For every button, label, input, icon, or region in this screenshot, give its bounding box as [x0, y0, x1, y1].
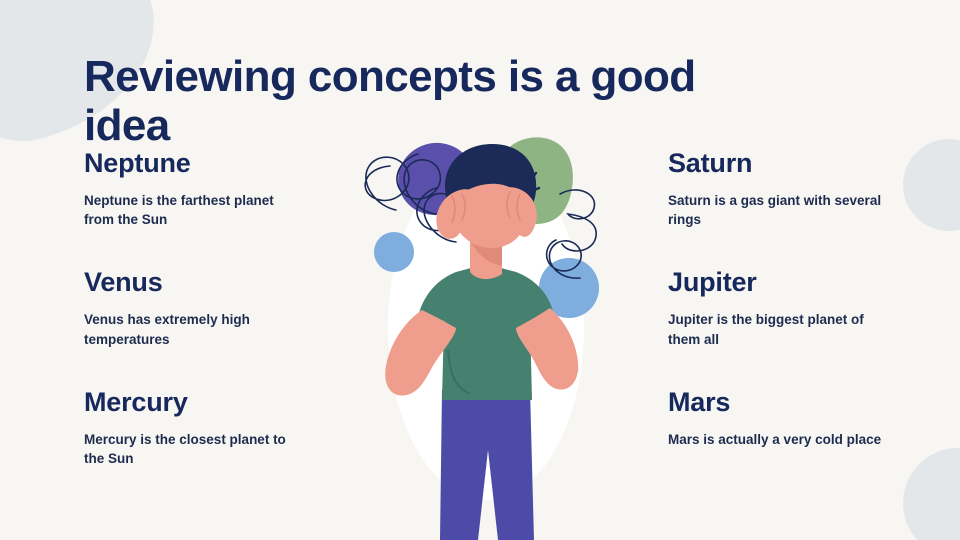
item-heading-mercury: Mercury	[84, 387, 334, 418]
list-item: Mercury Mercury is the closest planet to…	[84, 387, 334, 468]
item-heading-jupiter: Jupiter	[668, 267, 918, 298]
list-item: Mars Mars is actually a very cold place	[668, 387, 918, 449]
column-left: Neptune Neptune is the farthest planet f…	[84, 148, 334, 468]
circle-blue-left	[374, 232, 414, 272]
item-description-jupiter: Jupiter is the biggest planet of them al…	[668, 310, 883, 348]
item-description-saturn: Saturn is a gas giant with several rings	[668, 191, 883, 229]
decorative-circle-right-bottom	[903, 448, 960, 540]
item-heading-mars: Mars	[668, 387, 918, 418]
slide: Reviewing concepts is a good idea Neptun…	[0, 0, 960, 540]
illustration-stressed-person	[352, 132, 614, 540]
item-heading-venus: Venus	[84, 267, 334, 298]
list-item: Saturn Saturn is a gas giant with severa…	[668, 148, 918, 229]
list-item: Venus Venus has extremely high temperatu…	[84, 267, 334, 348]
item-description-venus: Venus has extremely high temperatures	[84, 310, 299, 348]
list-item: Neptune Neptune is the farthest planet f…	[84, 148, 334, 229]
item-description-neptune: Neptune is the farthest planet from the …	[84, 191, 299, 229]
item-heading-neptune: Neptune	[84, 148, 334, 179]
decorative-blob-top-left	[0, 0, 177, 160]
item-description-mars: Mars is actually a very cold place	[668, 430, 883, 449]
list-item: Jupiter Jupiter is the biggest planet of…	[668, 267, 918, 348]
item-description-mercury: Mercury is the closest planet to the Sun	[84, 430, 299, 468]
column-right: Saturn Saturn is a gas giant with severa…	[668, 148, 918, 449]
item-heading-saturn: Saturn	[668, 148, 918, 179]
